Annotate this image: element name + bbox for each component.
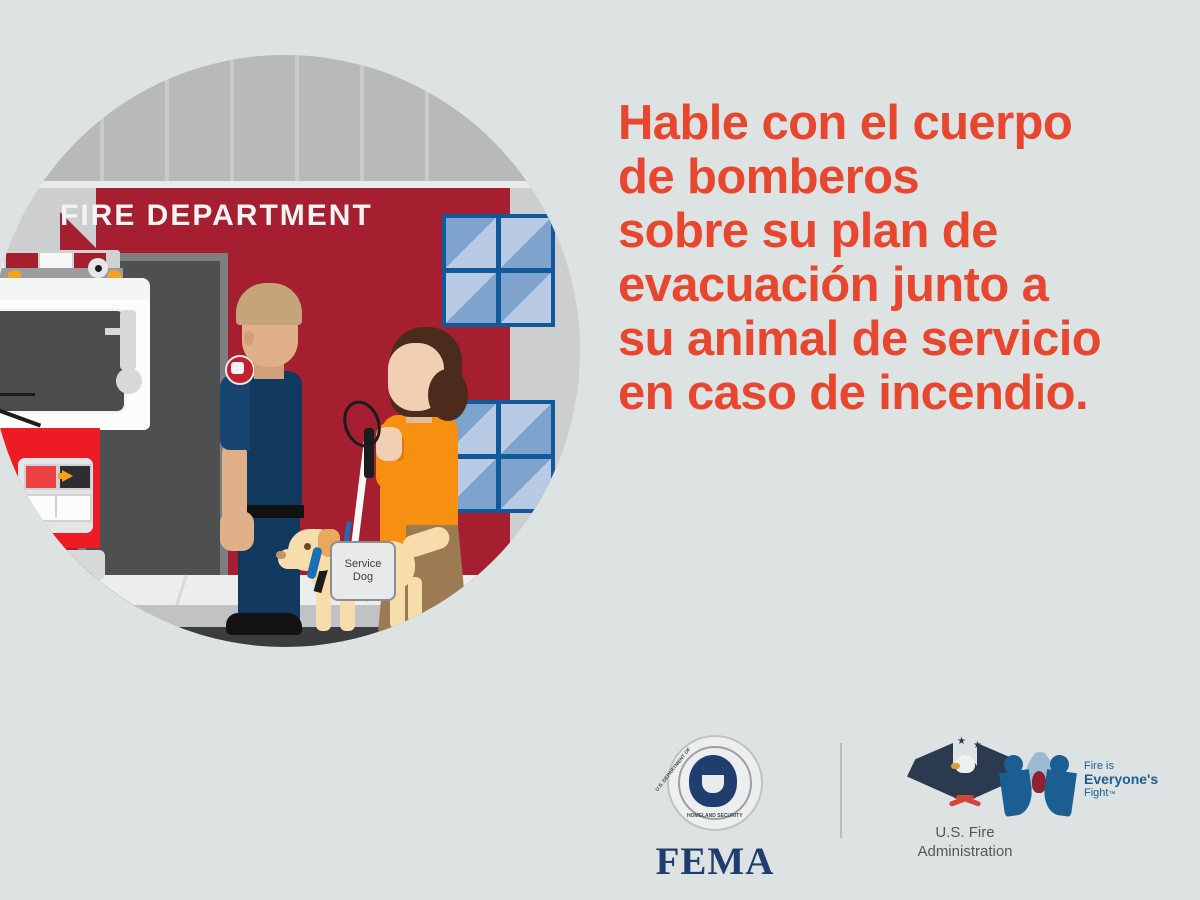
poster-canvas: FIRE DEPARTMENT (0, 0, 1200, 900)
fief-line-3-text: Fight (1084, 787, 1108, 799)
siding-stripe (230, 55, 234, 187)
headline-line-6: en caso de incendio. (618, 366, 1178, 420)
fief-wordmark: Fire is Everyone's Fight™ (1084, 760, 1158, 801)
beacon-center (95, 265, 102, 272)
service-dog-vest: Service Dog (330, 541, 396, 601)
window-pane (501, 273, 551, 323)
fema-logo: U.S. DEPARTMENT OF HOMELAND SECURITY FEM… (620, 735, 810, 884)
dhs-seal-icon: U.S. DEPARTMENT OF HOMELAND SECURITY (667, 735, 763, 831)
seal-text-bottom: HOMELAND SECURITY (687, 813, 743, 819)
lightbar-segment (0, 253, 4, 268)
window-pane (501, 404, 551, 454)
window-pane (501, 459, 551, 509)
usfa-line-2: Administration (870, 842, 1060, 861)
bumper (0, 550, 105, 580)
window-pane (446, 218, 496, 268)
fire-truck (0, 250, 210, 580)
fire-department-sign: FIRE DEPARTMENT (60, 193, 460, 238)
star-icon: ★ (957, 737, 966, 747)
windshield (0, 308, 127, 414)
headlight-pair (24, 494, 92, 522)
person-body-right (1041, 769, 1077, 817)
dog-leg (408, 577, 422, 623)
window-upper (442, 214, 555, 327)
vest-line-1: Service (345, 558, 382, 571)
vest-line-2: Dog (345, 571, 382, 584)
wiper-blade (0, 393, 35, 396)
firefighter-sleeve (220, 375, 250, 450)
warning-lamp (24, 464, 58, 490)
window-pane (446, 273, 496, 323)
fief-mark-icon (1000, 749, 1076, 811)
seal-text-top: U.S. DEPARTMENT OF (654, 747, 692, 793)
dog-eye (304, 543, 311, 550)
lightbar-segment (40, 253, 72, 268)
logo-row: U.S. DEPARTMENT OF HOMELAND SECURITY FEM… (600, 735, 1180, 865)
lightbar-segment (6, 253, 38, 268)
firefighter-hand (220, 511, 254, 551)
illustration-circle: FIRE DEPARTMENT (0, 55, 580, 647)
fire-is-everyones-fight-logo: Fire is Everyone's Fight™ (1000, 749, 1190, 811)
side-mirror (120, 310, 136, 370)
service-dog: Service Dog (282, 523, 452, 641)
siding-stripe (360, 55, 364, 187)
trademark-symbol: ™ (1108, 791, 1115, 798)
dog-nose (276, 551, 286, 559)
flame-icon (949, 795, 981, 809)
window-pane (501, 218, 551, 268)
headline-line-5: su animal de servicio (618, 312, 1178, 366)
headline-line-3: sobre su plan de (618, 204, 1178, 258)
eagle-beak (951, 763, 960, 769)
convex-mirror (116, 368, 142, 394)
service-dog-vest-label: Service Dog (345, 558, 382, 584)
siding-stripe (165, 55, 169, 187)
headline: Hable con el cuerpo de bomberos sobre su… (618, 96, 1178, 420)
headline-line-4: evacuación junto a (618, 258, 1178, 312)
firefighter-ear (244, 331, 254, 345)
fief-line-2: Everyone's (1084, 772, 1158, 787)
logo-divider (840, 743, 842, 838)
seal-ring-text: U.S. DEPARTMENT OF HOMELAND SECURITY (669, 737, 761, 829)
headlight-divider (55, 494, 57, 518)
usfa-line-1: U.S. Fire (870, 823, 1060, 842)
fief-line-1: Fire is (1084, 760, 1158, 772)
headline-line-1: Hable con el cuerpo (618, 96, 1178, 150)
eagle-wing-left (907, 743, 953, 797)
building-siding (0, 55, 580, 187)
siding-stripe (100, 55, 104, 187)
person-body-left (999, 769, 1035, 817)
fema-wordmark: FEMA (620, 839, 810, 884)
siding-stripe (295, 55, 299, 187)
woman-hair-bun (428, 369, 468, 421)
fief-line-3: Fight™ (1084, 787, 1158, 801)
arrow-right-icon (62, 470, 73, 482)
headline-line-2: de bomberos (618, 150, 1178, 204)
siding-stripe (425, 55, 429, 187)
usfa-wordmark: U.S. Fire Administration (870, 823, 1060, 861)
shoulder-patch-center (231, 362, 244, 374)
firefighter-hair (236, 283, 302, 325)
